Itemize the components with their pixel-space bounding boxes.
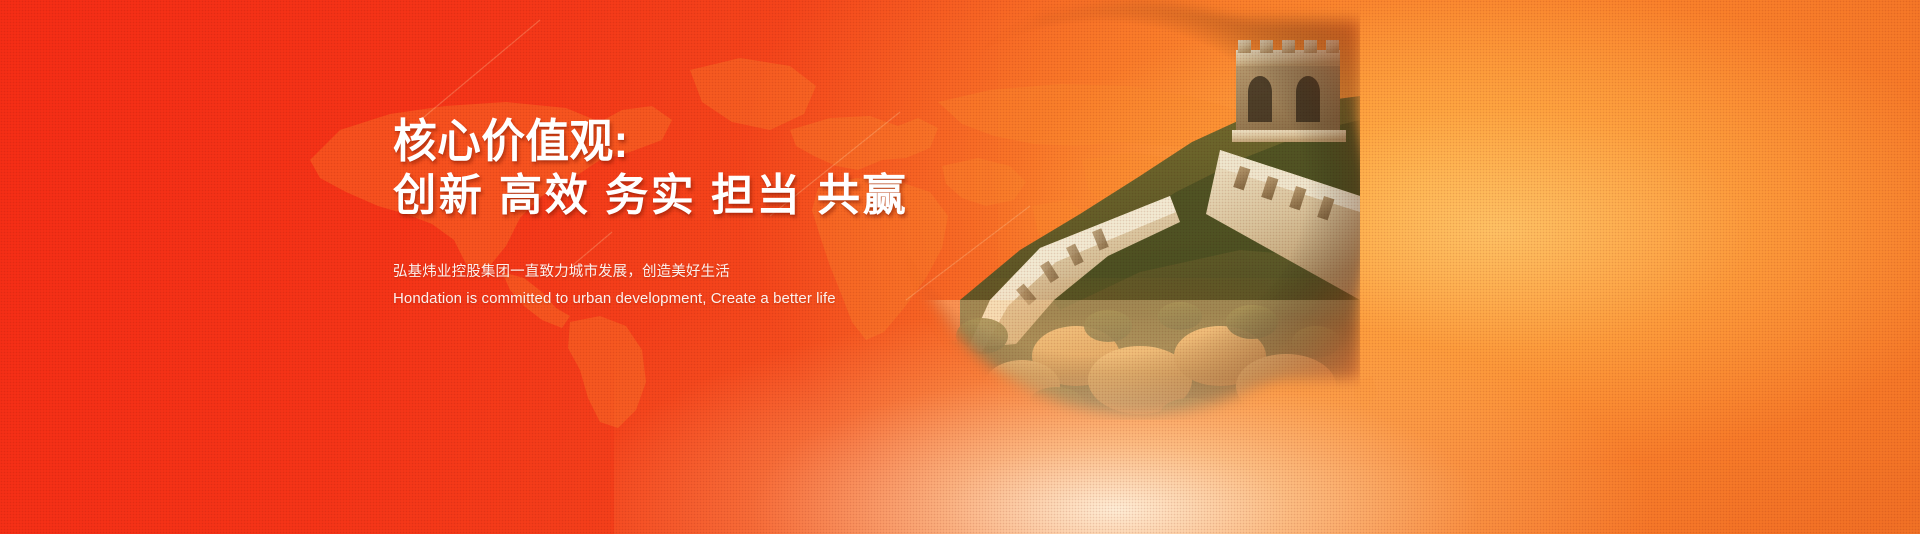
headline-secondary: 创新 高效 务实 担当 共赢 [393, 174, 1079, 218]
hero-banner: 核心价值观: 创新 高效 务实 担当 共赢 弘基炜业控股集团一直致力城市发展，创… [0, 0, 1920, 534]
headline-primary: 核心价值观: [393, 118, 1058, 164]
subtitle-english: Hondation is committed to urban developm… [393, 290, 1093, 307]
subtitle-chinese: 弘基炜业控股集团一直致力城市发展，创造美好生活 [393, 260, 1093, 281]
banner-copy: 核心价值观: 创新 高效 务实 担当 共赢 弘基炜业控股集团一直致力城市发展，创… [393, 118, 1093, 307]
